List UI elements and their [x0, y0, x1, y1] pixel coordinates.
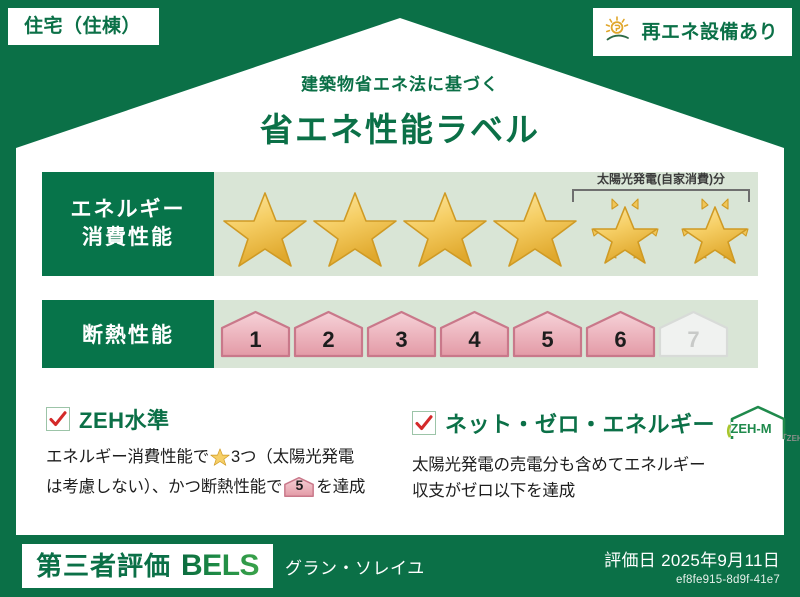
insulation-level-4-number: 4	[439, 327, 510, 353]
insulation-level-5: 5	[512, 309, 583, 359]
star-filled-2	[312, 185, 398, 269]
insulation-level-2-number: 2	[293, 327, 364, 353]
solar-annotation-label: 太陽光発電(自家消費)分	[572, 170, 750, 187]
evaluation-id: ef8fe915-8d9f-41e7	[604, 574, 780, 586]
criteria-netzero-body-part1: 太陽光発電の売電分も含めてエネルギー	[412, 456, 705, 474]
insulation-row-label: 断熱性能	[42, 300, 214, 368]
bels-japanese-label: 第三者評価	[36, 553, 171, 579]
energy-performance-row: エネルギー 消費性能	[42, 172, 758, 276]
star-filled-4	[492, 185, 578, 269]
insulation-level-3: 3	[366, 309, 437, 359]
bels-logo-text: BELS	[181, 551, 259, 581]
criteria-zeh-body-part1: エネルギー消費性能で	[46, 448, 209, 466]
solar-generation-annotation: 太陽光発電(自家消費)分	[572, 170, 750, 202]
energy-performance-label: 住宅（住棟） 再エネ設備あり 建築物省エネ法に基づく 省エネ性能ラ	[0, 0, 800, 597]
zeh-m-logo-caption: 「ZEH-M」	[779, 433, 800, 444]
energy-row-label-line2: 消費性能	[82, 224, 174, 252]
insulation-level-1-number: 1	[220, 327, 291, 353]
star-icon	[210, 452, 230, 470]
insulation-level-6: 6	[585, 309, 656, 359]
energy-row-label-line1: エネルギー	[71, 196, 186, 224]
zeh-m-logo-icon: ZEH-M 「ZEH-M」	[726, 403, 790, 443]
energy-row-label: エネルギー 消費性能	[42, 172, 214, 276]
criteria-zeh-body: エネルギー消費性能で3つ（太陽光発電は考慮しない）、かつ断熱性能で5を達成	[46, 444, 406, 500]
page-title: 建築物省エネ法に基づく 省エネ性能ラベル	[0, 70, 800, 151]
checkmark-icon	[46, 407, 70, 431]
insulation-level-4: 4	[439, 309, 510, 359]
criteria-netzero-body-part2: 収支がゼロ以下を達成	[412, 482, 575, 500]
insulation-level-5-number: 5	[512, 327, 583, 353]
building-type-label: 住宅（住棟）	[24, 16, 141, 37]
bels-certification-plate: 第三者評価 BELS	[22, 544, 273, 588]
criteria-zeh-body-part2: 3つ（太陽光発電	[231, 448, 354, 466]
star-filled-1	[222, 185, 308, 269]
criteria-zeh-header: ZEH水準	[46, 403, 406, 435]
insulation-level-7-number: 7	[658, 327, 729, 353]
insulation-level-1: 1	[220, 309, 291, 359]
energy-row-content: 太陽光発電(自家消費)分	[214, 172, 758, 276]
insulation-level-7: 7	[658, 309, 729, 359]
criteria-zeh-body-part4: を達成	[316, 478, 365, 496]
criteria-zeh-title: ZEH水準	[79, 403, 170, 435]
building-type-tag: 住宅（住棟）	[8, 8, 159, 45]
insulation-performance-row: 断熱性能 1	[42, 300, 758, 368]
sun-renewable-icon	[603, 15, 633, 49]
house-badge-icon: 5	[284, 476, 314, 498]
criteria-zeh-standard: ZEH水準 エネルギー消費性能で3つ（太陽光発電は考慮しない）、かつ断熱性能で5…	[46, 403, 406, 500]
evaluation-info: 評価日 2025年9月11日 ef8fe915-8d9f-41e7	[604, 546, 780, 586]
criteria-netzero-body: 太陽光発電の売電分も含めてエネルギー収支がゼロ以下を達成	[412, 452, 784, 504]
criteria-net-zero-energy: ネット・ゼロ・エネルギー ZEH-M 「ZEH-M」 太陽光発電の売電分も含めて…	[412, 403, 784, 504]
title-main: 省エネ性能ラベル	[0, 103, 800, 151]
criteria-zeh-body-part3: は考慮しない）、かつ断熱性能で	[46, 478, 282, 496]
star-filled-3	[402, 185, 488, 269]
insulation-level-2: 2	[293, 309, 364, 359]
criteria-netzero-title: ネット・ゼロ・エネルギー	[445, 407, 715, 439]
insulation-row-label-text: 断熱性能	[82, 319, 174, 349]
building-name: グラン・ソレイユ	[285, 554, 425, 579]
renewable-equipment-badge: 再エネ設備あり	[593, 8, 792, 56]
title-subtitle: 建築物省エネ法に基づく	[0, 70, 800, 95]
renewable-badge-label: 再エネ設備あり	[641, 23, 778, 42]
insulation-level-3-number: 3	[366, 327, 437, 353]
insulation-row-content: 1 2 3 4	[214, 300, 758, 368]
evaluation-date: 評価日 2025年9月11日	[604, 546, 780, 571]
svg-text:ZEH-M: ZEH-M	[730, 421, 771, 436]
checkmark-icon	[412, 411, 436, 435]
insulation-level-6-number: 6	[585, 327, 656, 353]
insulation-level-group: 1 2 3 4	[214, 309, 729, 359]
solar-annotation-bracket	[572, 189, 750, 202]
criteria-netzero-header: ネット・ゼロ・エネルギー ZEH-M 「ZEH-M」	[412, 403, 784, 443]
footer-bar: 第三者評価 BELS グラン・ソレイユ 評価日 2025年9月11日 ef8fe…	[0, 535, 800, 597]
house-badge-number: 5	[284, 474, 314, 496]
